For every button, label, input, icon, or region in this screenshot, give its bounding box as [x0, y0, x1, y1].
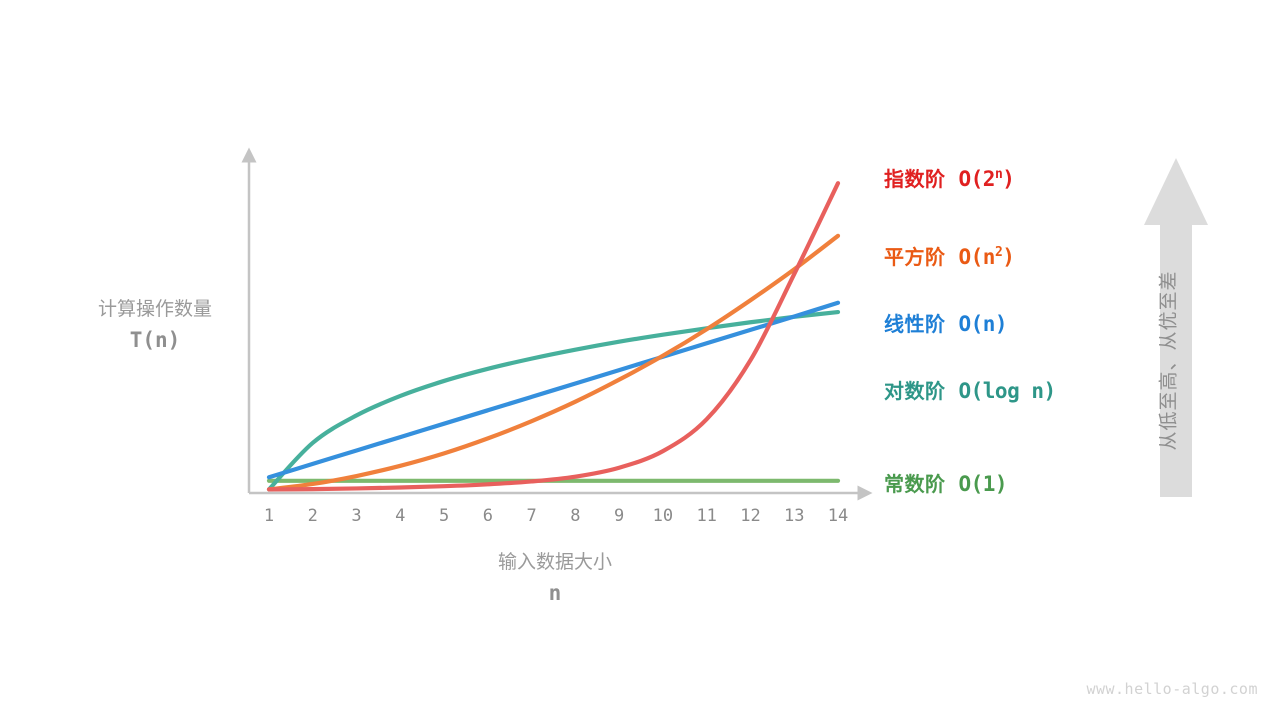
watermark: www.hello-algo.com — [1086, 680, 1258, 698]
legend-notation-指数阶: O(2n) — [959, 167, 1015, 191]
series-line-on — [269, 303, 838, 477]
series-layer — [269, 183, 838, 489]
x-tick-label-12: 12 — [735, 506, 765, 526]
ranking-up-arrow-icon — [1140, 155, 1212, 500]
legend-label-常数阶: 常数阶 — [884, 468, 946, 497]
x-tick-label-10: 10 — [648, 506, 678, 526]
x-tick-label-11: 11 — [692, 506, 722, 526]
complexity-chart-figure: 1234567891011121314 计算操作数量 T(n) 输入数据大小 n… — [0, 0, 1280, 720]
x-tick-label-3: 3 — [342, 506, 372, 526]
x-tick-label-9: 9 — [604, 506, 634, 526]
legend-label-平方阶: 平方阶 — [884, 241, 946, 270]
legend-item-指数阶[interactable]: 指数阶O(2n) — [884, 163, 1014, 192]
x-axis-title: 输入数据大小 n — [430, 548, 680, 610]
legend-label-指数阶: 指数阶 — [884, 163, 946, 192]
x-tick-label-1: 1 — [254, 506, 284, 526]
legend-item-线性阶[interactable]: 线性阶O(n) — [884, 308, 1007, 337]
x-tick-label-14: 14 — [823, 506, 853, 526]
x-tick-label-2: 2 — [298, 506, 328, 526]
x-tick-label-5: 5 — [429, 506, 459, 526]
x-tick-label-8: 8 — [560, 506, 590, 526]
x-axis-title-symbol: n — [430, 576, 680, 610]
legend-label-对数阶: 对数阶 — [884, 375, 946, 404]
y-axis-title-text: 计算操作数量 — [45, 295, 265, 323]
x-tick-label-13: 13 — [779, 506, 809, 526]
y-axis-title-symbol: T(n) — [45, 323, 265, 357]
legend-notation-线性阶: O(n) — [959, 312, 1008, 336]
legend-item-常数阶[interactable]: 常数阶O(1) — [884, 468, 1007, 497]
x-axis-title-text: 输入数据大小 — [430, 548, 680, 576]
x-tick-label-4: 4 — [385, 506, 415, 526]
legend: 指数阶O(2n)平方阶O(n2)线性阶O(n)对数阶O(log n)常数阶O(1… — [884, 0, 1114, 720]
legend-notation-对数阶: O(log n) — [959, 379, 1056, 403]
legend-notation-常数阶: O(1) — [959, 472, 1008, 496]
legend-item-平方阶[interactable]: 平方阶O(n2) — [884, 241, 1014, 270]
legend-item-对数阶[interactable]: 对数阶O(log n) — [884, 375, 1056, 404]
y-axis-title: 计算操作数量 T(n) — [45, 295, 265, 357]
x-tick-label-6: 6 — [473, 506, 503, 526]
legend-label-线性阶: 线性阶 — [884, 308, 946, 337]
x-tick-label-7: 7 — [517, 506, 547, 526]
series-line-ologn — [269, 312, 838, 489]
legend-notation-平方阶: O(n2) — [959, 245, 1015, 269]
series-line-o2n — [269, 183, 838, 489]
